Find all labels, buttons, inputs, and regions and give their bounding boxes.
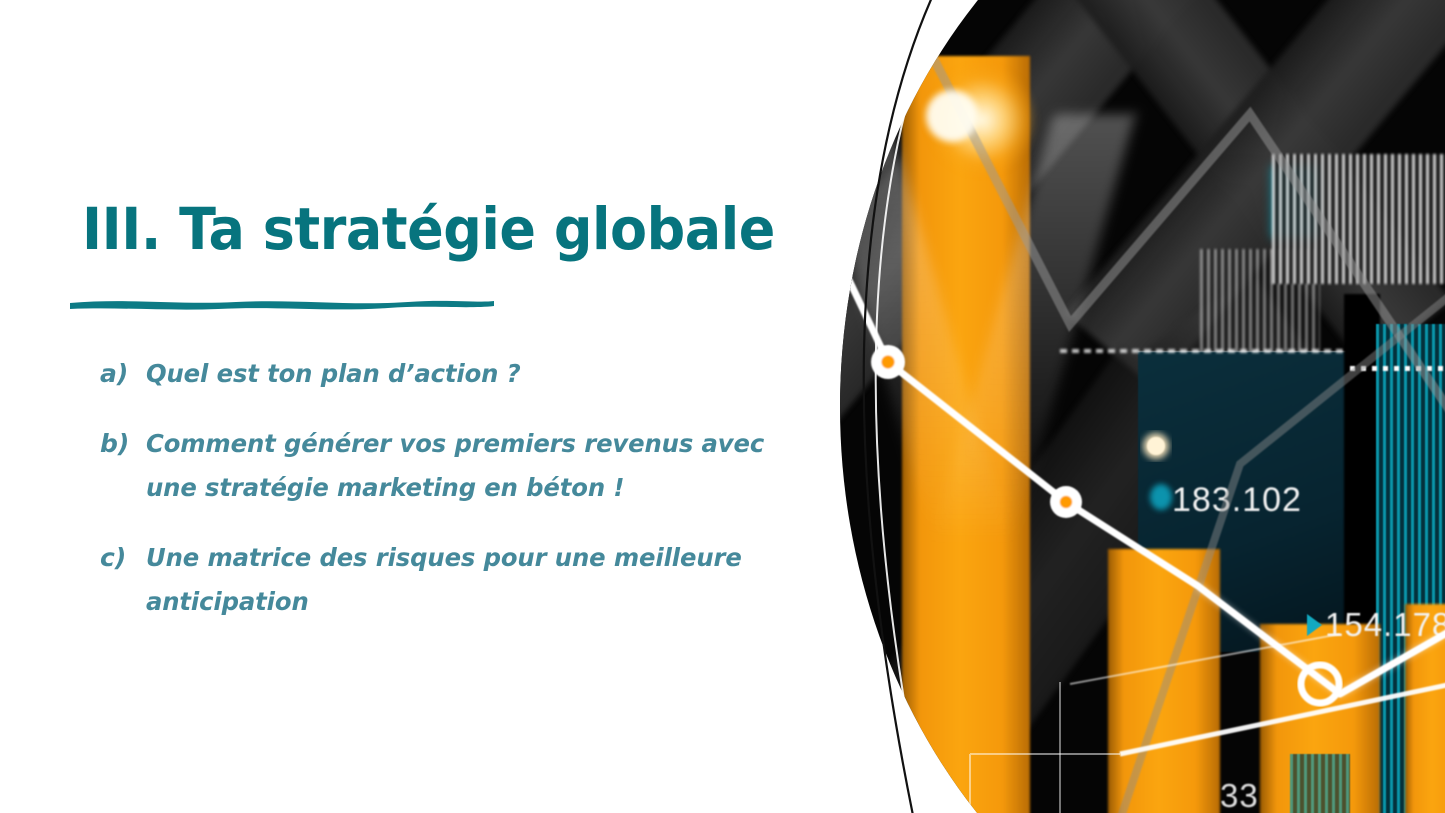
list-item: a) Quel est ton plan d’action ? (100, 352, 800, 396)
chart-marker (871, 345, 905, 379)
list-item: b) Comment générer vos premiers revenus … (100, 422, 800, 510)
list-item-marker: a) (100, 352, 146, 396)
chart-polyline-glow (1198, 586, 1445, 694)
chart-marker-group (871, 90, 1339, 703)
photo-content: 183.102 154.178 33 (820, 0, 1445, 813)
list-item-marker: b) (100, 422, 146, 466)
chart-marker (1301, 665, 1339, 703)
text-column: III. Ta stratégie globale a) Quel est to… (0, 0, 830, 813)
secondary-guide-line (880, 0, 1445, 414)
secondary-guide-line (1120, 294, 1445, 813)
chart-polyline (830, 240, 1445, 694)
decorative-photo: 183.102 154.178 33 (820, 0, 1445, 813)
list-item-text: Comment générer vos premiers revenus ave… (146, 422, 780, 510)
bar-peak-marker (926, 90, 978, 142)
photo-arc-mask: 183.102 154.178 33 (820, 0, 1445, 813)
list-item: c) Une matrice des risques pour une meil… (100, 536, 800, 624)
line-chart-overlay (820, 0, 1445, 813)
list-item-text: Quel est ton plan d’action ? (146, 352, 780, 396)
bullet-list: a) Quel est ton plan d’action ? b) Comme… (100, 352, 800, 650)
lower-trend-line (1120, 684, 1445, 754)
list-item-text: Une matrice des risques pour une meilleu… (146, 536, 780, 624)
slide-root: III. Ta stratégie globale a) Quel est to… (0, 0, 1445, 813)
list-item-marker: c) (100, 536, 146, 580)
page-title: III. Ta stratégie globale (82, 200, 752, 258)
chart-marker (1147, 437, 1165, 455)
title-underline-stroke (68, 292, 496, 312)
chart-marker (1050, 486, 1082, 518)
frame-line (970, 754, 1120, 813)
